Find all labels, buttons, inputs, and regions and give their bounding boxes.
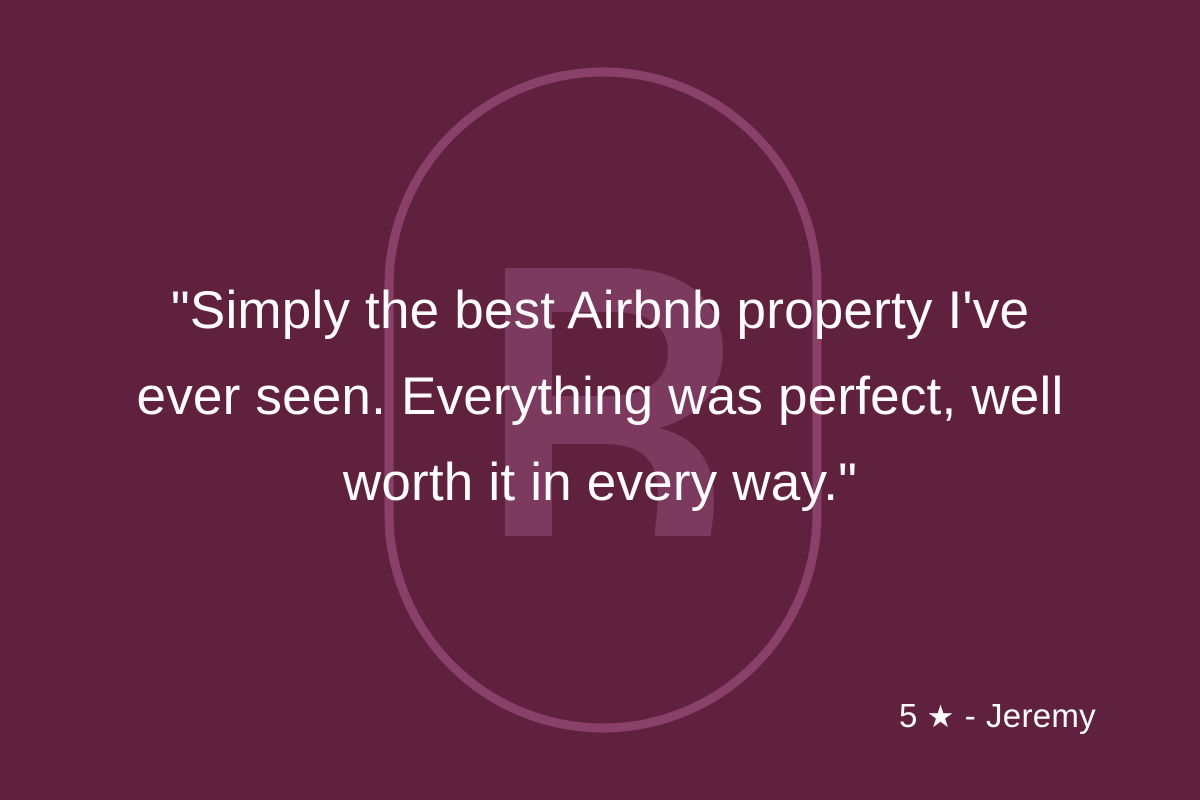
quote-line-2: ever seen. Everything was perfect, well [0, 354, 1200, 440]
attribution-name: Jeremy [986, 699, 1096, 732]
quote-text: "Simply the best Airbnb property I've ev… [0, 268, 1200, 526]
star-icon: ★ [927, 701, 955, 732]
rating-value: 5 [899, 699, 918, 732]
quote-line-3: worth it in every way." [0, 440, 1200, 526]
testimonial-card: "Simply the best Airbnb property I've ev… [0, 0, 1200, 800]
attribution: 5 ★ - Jeremy [899, 699, 1096, 732]
attribution-separator: - [965, 699, 976, 732]
quote-line-1: "Simply the best Airbnb property I've [0, 268, 1200, 354]
